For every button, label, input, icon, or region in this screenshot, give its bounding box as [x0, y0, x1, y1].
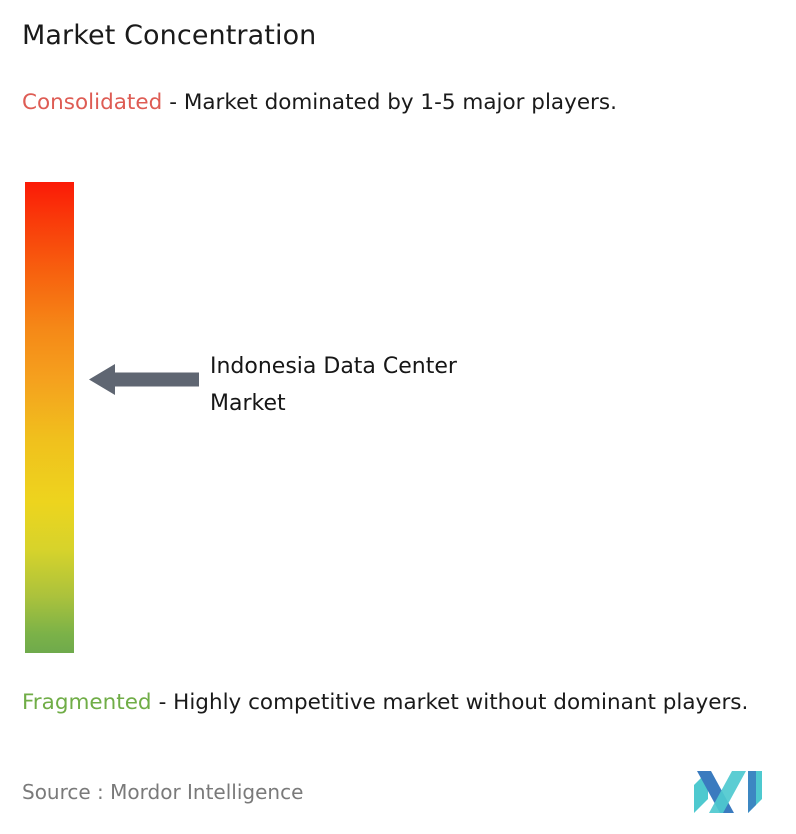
legend-consolidated-keyword: Consolidated — [22, 90, 162, 115]
market-concentration-gradient-bar — [25, 182, 74, 653]
callout-label-line2: Market — [210, 385, 630, 422]
legend-consolidated-description: - Market dominated by 1-5 major players. — [169, 90, 617, 115]
callout-label: Indonesia Data Center Market — [210, 348, 630, 422]
page-title: Market Concentration — [22, 18, 316, 54]
legend-fragmented-description: - Highly competitive market without domi… — [159, 690, 749, 715]
source-attribution: Source : Mordor Intelligence — [22, 778, 303, 806]
legend-consolidated: Consolidated- Market dominated by 1-5 ma… — [22, 86, 774, 119]
callout-label-line1: Indonesia Data Center — [210, 348, 630, 385]
legend-fragmented: Fragmented- Highly competitive market wi… — [22, 686, 784, 719]
legend-fragmented-keyword: Fragmented — [22, 690, 152, 715]
callout-arrow-icon — [89, 361, 199, 398]
mordor-intelligence-logo-icon — [694, 771, 762, 813]
